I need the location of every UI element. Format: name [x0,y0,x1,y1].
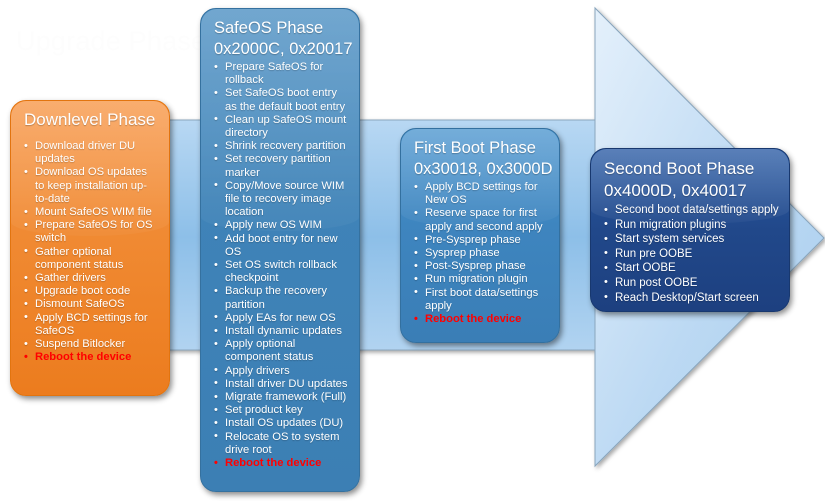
list-item: Clean up SafeOS mount directory [212,114,349,140]
phase-steps-firstboot: Apply BCD settings for New OS Reserve sp… [412,181,549,326]
list-item: First boot data/settings apply [412,287,549,313]
list-item: Apply new OS WIM [212,219,349,232]
list-item: Upgrade boot code [22,285,159,298]
phase-codes-firstboot: 0x30018, 0x3000D [414,159,549,179]
list-item: Migrate framework (Full) [212,391,349,404]
phase-codes-secondboot: 0x4000D, 0x40017 [604,180,779,201]
phase-title-secondboot: Second Boot Phase [604,158,779,179]
list-item: Start OOBE [602,261,779,276]
list-item: Mount SafeOS WIM file [22,206,159,219]
list-item: Shrink recovery partition [212,140,349,153]
list-item: Set SafeOS boot entry as the default boo… [212,87,349,113]
list-item: Dismount SafeOS [22,298,159,311]
list-item: Prepare SafeOS for OS switch [22,219,159,245]
list-item: Prepare SafeOS for rollback [212,61,349,87]
list-item: Set recovery partition marker [212,153,349,179]
phase-title-firstboot: First Boot Phase [414,138,549,158]
list-item: Suspend Bitlocker [22,338,159,351]
list-item: Run migration plugins [602,218,779,233]
list-item: Apply BCD settings for SafeOS [22,312,159,338]
list-item: Run post OOBE [602,276,779,291]
watermark-text: Upgrade Phases [16,26,220,57]
list-item: Gather optional component status [22,246,159,272]
phase-box-safeos[interactable]: SafeOS Phase 0x2000C, 0x20017 Prepare Sa… [200,8,360,492]
list-item-reboot: Reboot the device [22,351,159,364]
list-item: Apply optional component status [212,338,349,364]
list-item: Set product key [212,404,349,417]
list-item: Apply BCD settings for New OS [412,181,549,207]
phase-title-safeos: SafeOS Phase [214,18,349,38]
phase-box-downlevel[interactable]: Downlevel Phase Download driver DU updat… [10,100,170,396]
list-item: Pre-Sysprep phase [412,234,549,247]
list-item: Download driver DU updates [22,140,159,166]
list-item: Run pre OOBE [602,247,779,262]
list-item: Second boot data/settings apply [602,203,779,218]
list-item: Install driver DU updates [212,378,349,391]
diagram-canvas: Upgrade Phases Downlevel Phase Download … [0,0,825,501]
list-item: Sysprep phase [412,247,549,260]
list-item: Apply drivers [212,365,349,378]
list-item: Install OS updates (DU) [212,417,349,430]
list-item: Apply EAs for new OS [212,312,349,325]
list-item-reboot: Reboot the device [412,313,549,326]
list-item: Run migration plugin [412,273,549,286]
list-item: Copy/Move source WIM file to recovery im… [212,180,349,220]
list-item: Relocate OS to system drive root [212,431,349,457]
phase-codes-safeos: 0x2000C, 0x20017 [214,39,349,59]
phase-steps-safeos: Prepare SafeOS for rollback Set SafeOS b… [212,61,349,470]
phase-box-firstboot[interactable]: First Boot Phase 0x30018, 0x3000D Apply … [400,128,560,343]
list-item: Set OS switch rollback checkpoint [212,259,349,285]
list-item: Download OS updates to keep installation… [22,166,159,206]
list-item: Install dynamic updates [212,325,349,338]
phase-box-secondboot[interactable]: Second Boot Phase 0x4000D, 0x40017 Secon… [590,148,790,312]
list-item: Reach Desktop/Start screen [602,291,779,306]
list-item: Post-Sysprep phase [412,260,549,273]
list-item: Start system services [602,232,779,247]
phase-steps-secondboot: Second boot data/settings apply Run migr… [602,203,779,305]
list-item: Reserve space for first apply and second… [412,207,549,233]
list-item: Gather drivers [22,272,159,285]
list-item-reboot: Reboot the device [212,457,349,470]
list-item: Add boot entry for new OS [212,233,349,259]
phase-title-downlevel: Downlevel Phase [24,110,159,130]
list-item: Backup the recovery partition [212,285,349,311]
phase-steps-downlevel: Download driver DU updates Download OS u… [22,140,159,364]
